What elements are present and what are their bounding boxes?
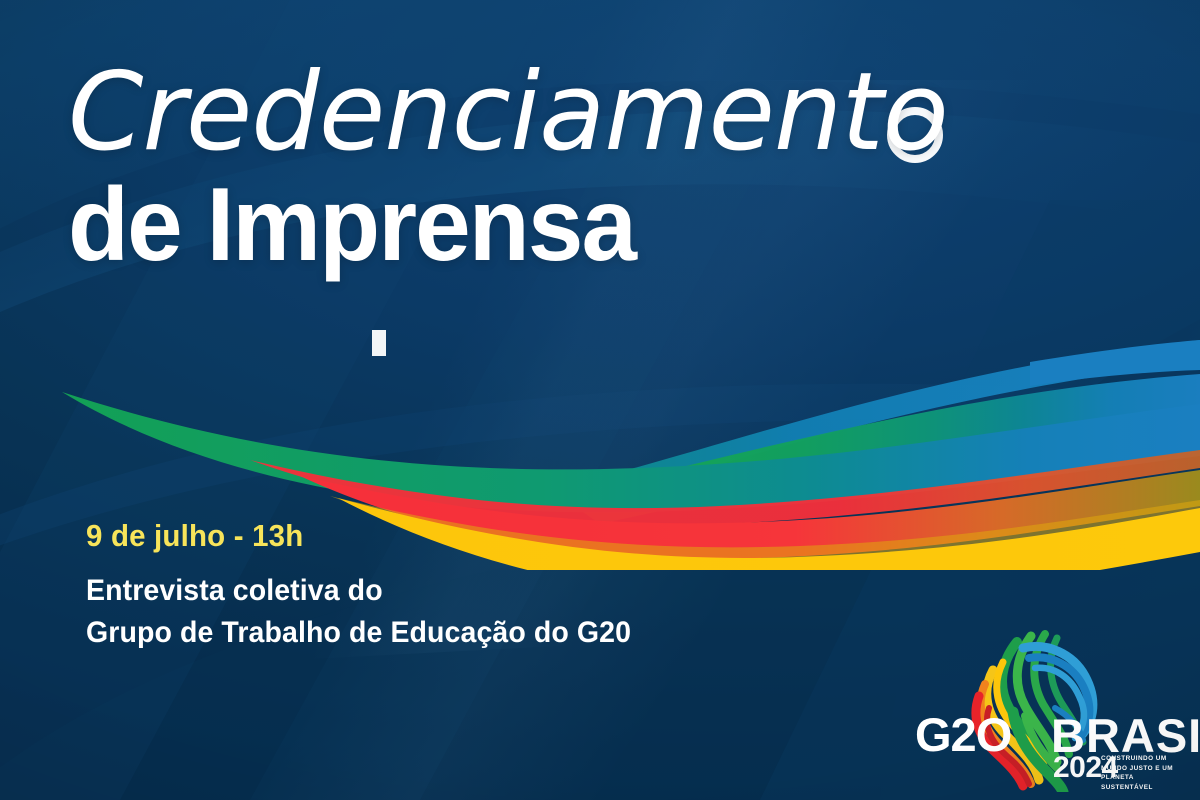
poster-vignette [0,0,1200,800]
press-accreditation-poster: Credenciamento de Imprensa [0,0,1200,800]
